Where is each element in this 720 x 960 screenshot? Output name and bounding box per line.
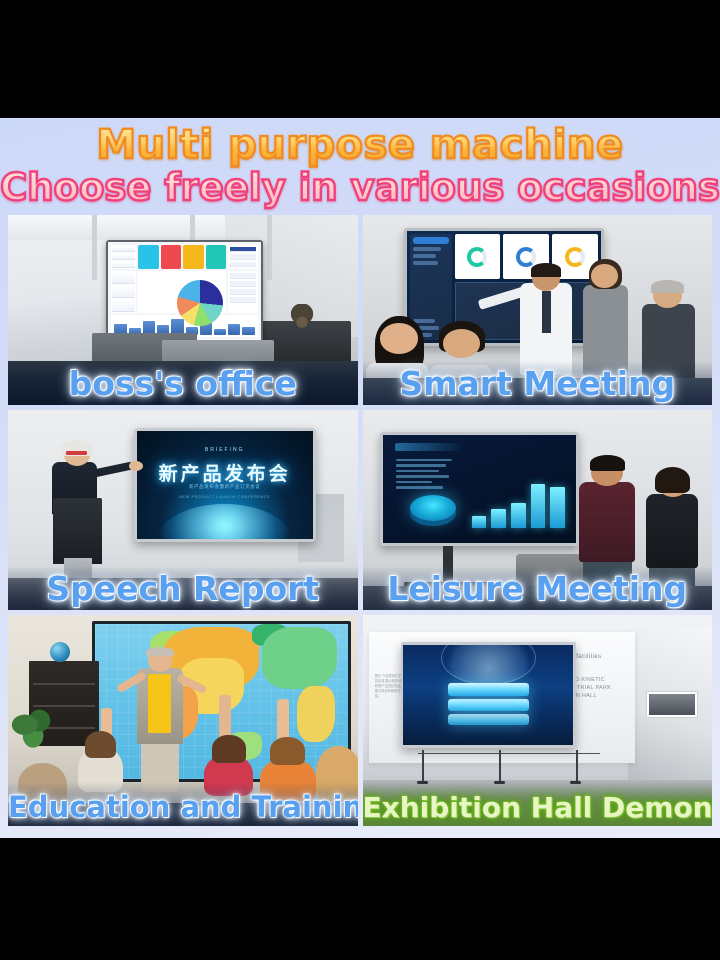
scene-caption: Smart Meeting bbox=[363, 363, 713, 405]
display-panel bbox=[401, 642, 576, 748]
poster-canvas: Multi purpose machine Choose freely in v… bbox=[0, 118, 720, 838]
letterbox-top bbox=[0, 0, 720, 118]
scene-caption: Education and Training bbox=[8, 789, 358, 826]
display-panel bbox=[106, 240, 263, 343]
scene-card-exhibition-hall-demonstration[interactable]: Supporting facilities NEW AND OLD KINETI… bbox=[363, 615, 713, 826]
slide-subtitle: 新产品发布会暨新产品订货会议 bbox=[137, 484, 313, 490]
scene-card-leisure-meeting[interactable]: Leisure Meeting bbox=[363, 410, 713, 610]
scene-caption: Leisure Meeting bbox=[363, 568, 713, 610]
slide-eyebrow: BRIEFING bbox=[137, 447, 313, 453]
display-panel bbox=[380, 432, 579, 546]
scene-card-bosss-office[interactable]: boss's office bbox=[8, 215, 358, 405]
display-panel: BRIEFING 新产品发布会 新产品发布会暨新产品订货会议 NEW PRODU… bbox=[134, 428, 316, 542]
scene-card-speech-report[interactable]: BRIEFING 新产品发布会 新产品发布会暨新产品订货会议 NEW PRODU… bbox=[8, 410, 358, 610]
scene-card-education-and-training[interactable]: Education and Training bbox=[8, 615, 358, 826]
poster-headline: Multi purpose machine Choose freely in v… bbox=[0, 122, 720, 210]
scene-caption: Exhibition Hall Demonstration bbox=[363, 790, 713, 826]
scene-grid: boss's office bbox=[8, 215, 712, 828]
scene-caption: boss's office bbox=[8, 363, 358, 405]
poster-screenshot: Multi purpose machine Choose freely in v… bbox=[0, 0, 720, 960]
headline-line-2: Choose freely in various occasions bbox=[0, 166, 720, 210]
slide-title: 新产品发布会 bbox=[137, 459, 313, 486]
letterbox-bottom bbox=[0, 838, 720, 960]
slide-subtitle-en: NEW PRODUCT LAUNCH CONFERENCE bbox=[137, 494, 313, 499]
headline-line-1: Multi purpose machine bbox=[0, 122, 720, 168]
scene-card-smart-meeting[interactable]: Smart Meeting bbox=[363, 215, 713, 405]
scene-caption: Speech Report bbox=[8, 568, 358, 610]
